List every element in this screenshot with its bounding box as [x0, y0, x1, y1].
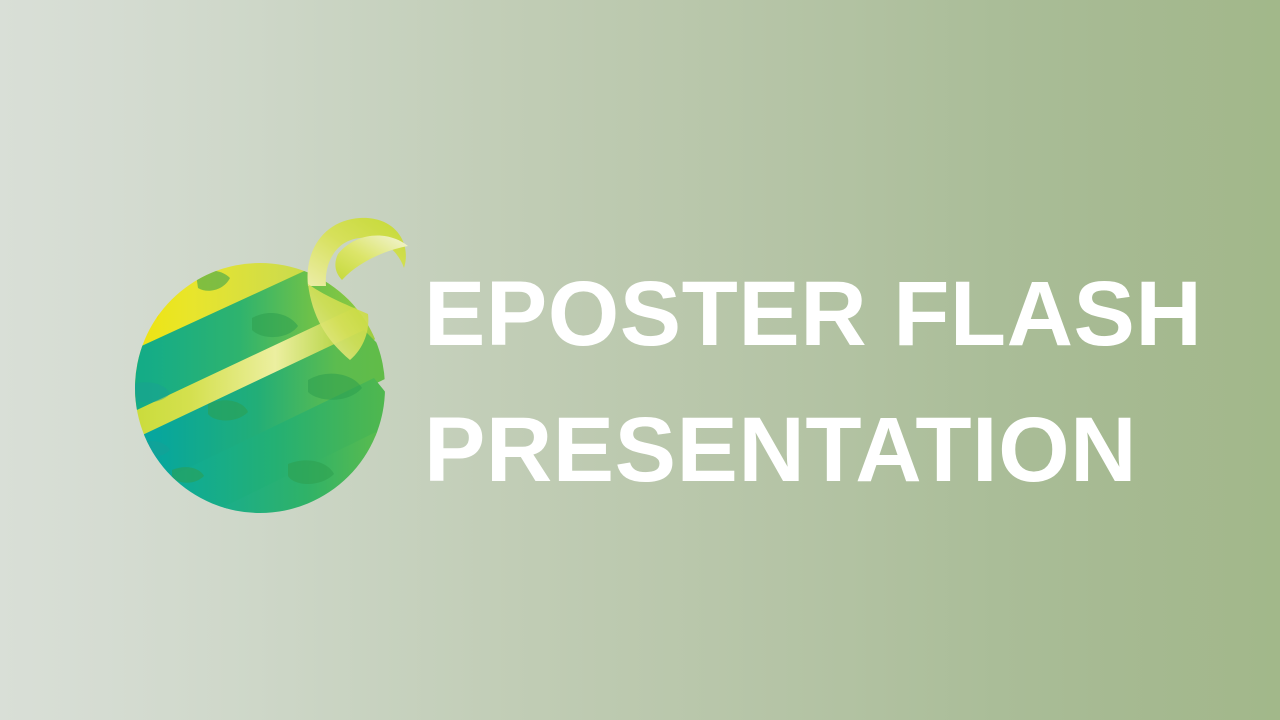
- page-title-line-1: EPOSTER FLASH: [424, 246, 1214, 382]
- page-title-line-2: PRESENTATION: [424, 382, 1214, 518]
- slide-canvas: EPOSTER FLASH PRESENTATION: [0, 0, 1280, 720]
- spiral-globe-leaf-logo: [112, 198, 412, 518]
- title-block: EPOSTER FLASH PRESENTATION: [424, 246, 1214, 518]
- globe-ribbon-bands: [112, 226, 410, 518]
